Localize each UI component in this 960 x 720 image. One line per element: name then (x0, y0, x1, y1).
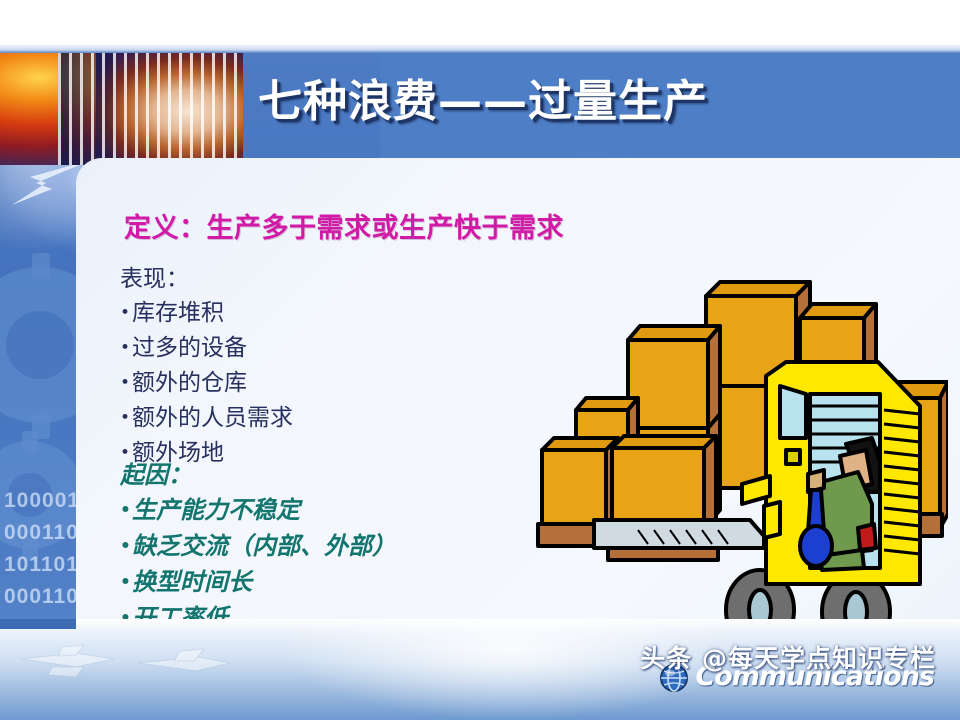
definition-line: 定义：生产多于需求或生产快于需求 (124, 206, 564, 245)
forklift-forks (594, 520, 764, 548)
section-manifestation: 表现： 库存堆积 过多的设备 额外的仓库 额外的人员需求 额外场地 (120, 262, 550, 471)
jet-plane-graphic (18, 637, 278, 691)
forklift-with-boxes-illustration (528, 278, 948, 658)
slide-canvas: 100001 000110 101101 000110 100001 00011… (0, 0, 960, 720)
list-item: 过多的设备 (120, 331, 550, 366)
list-item: 生产能力不稳定 (120, 492, 550, 528)
list-item: 库存堆积 (120, 296, 550, 331)
watermark-text: 头条 @每天学点知识专栏 (640, 639, 936, 675)
list-item: 换型时间长 (120, 564, 550, 600)
list-item: 额外的人员需求 (120, 401, 550, 436)
list-item: 缺乏交流（内部、外部） (120, 528, 550, 564)
page-title: 七种浪费——过量生产 (258, 65, 708, 129)
section-heading: 起因： (120, 458, 550, 492)
box (542, 438, 618, 526)
list-item: 额外的仓库 (120, 366, 550, 401)
fire-and-face-photo-strip (0, 53, 243, 165)
footer-band: Communications 头条 @每天学点知识专栏 (0, 619, 960, 720)
footer-left-chip (0, 619, 76, 629)
manifestation-list: 库存堆积 过多的设备 额外的仓库 额外的人员需求 额外场地 (120, 296, 550, 471)
section-heading: 表现： (120, 262, 550, 296)
content-panel: 定义：生产多于需求或生产快于需求 表现： 库存堆积 过多的设备 额外的仓库 额外… (76, 158, 960, 660)
top-edge-fade (0, 45, 960, 53)
box (628, 326, 720, 430)
